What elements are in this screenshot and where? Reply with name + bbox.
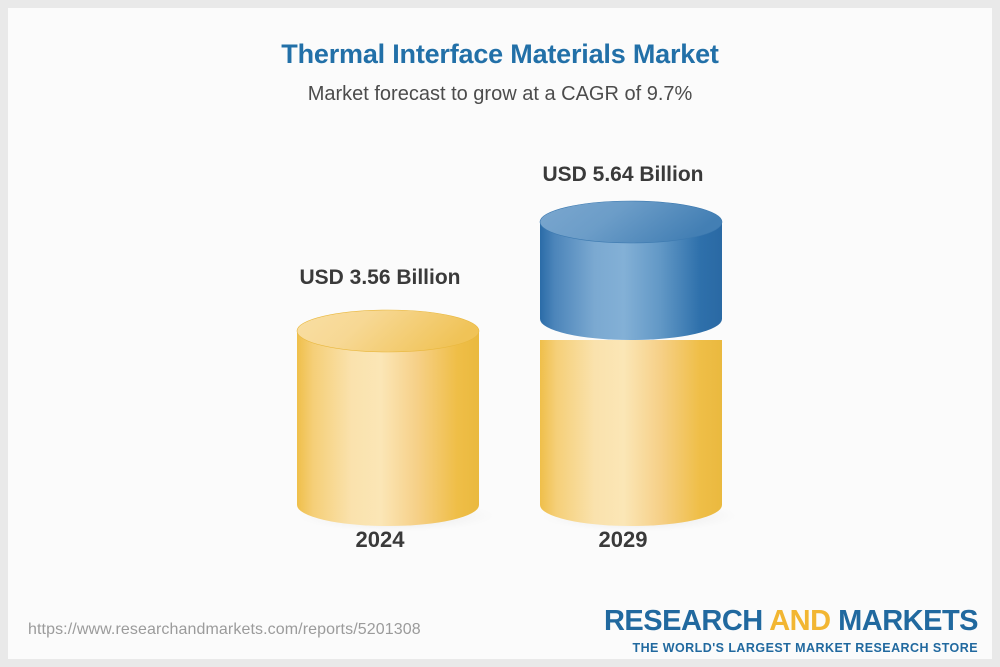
bar-chart: USD 3.56 Billion USD 5.64 Billion 2024 2…: [8, 8, 992, 659]
cylinder-bars-graphic: [8, 8, 992, 659]
infographic-card: Thermal Interface Materials Market Marke…: [8, 8, 992, 659]
category-label-2029: 2029: [523, 527, 723, 553]
category-label-2024: 2024: [280, 527, 480, 553]
report-url[interactable]: https://www.researchandmarkets.com/repor…: [28, 621, 421, 639]
bar-2024: [297, 310, 479, 526]
bar-2029-top-cap: [540, 201, 722, 243]
bar-2029: [540, 201, 722, 526]
bar-2024-top-cap: [297, 310, 479, 352]
logo-word-markets: MARKETS: [838, 605, 978, 637]
value-label-2024: USD 3.56 Billion: [280, 266, 480, 290]
logo-wordmark: RESEARCH AND MARKETS: [604, 607, 978, 636]
brand-logo[interactable]: RESEARCH AND MARKETS THE WORLD'S LARGEST…: [604, 607, 978, 655]
infographic-root: Thermal Interface Materials Market Marke…: [0, 0, 1000, 667]
value-label-2029: USD 5.64 Billion: [523, 163, 723, 187]
bar-2024-body: [297, 331, 479, 526]
bar-2029-base-segment: [540, 340, 722, 526]
logo-tagline: THE WORLD'S LARGEST MARKET RESEARCH STOR…: [604, 642, 978, 655]
logo-word-research: RESEARCH: [604, 605, 763, 637]
logo-word-and: AND: [763, 605, 838, 637]
